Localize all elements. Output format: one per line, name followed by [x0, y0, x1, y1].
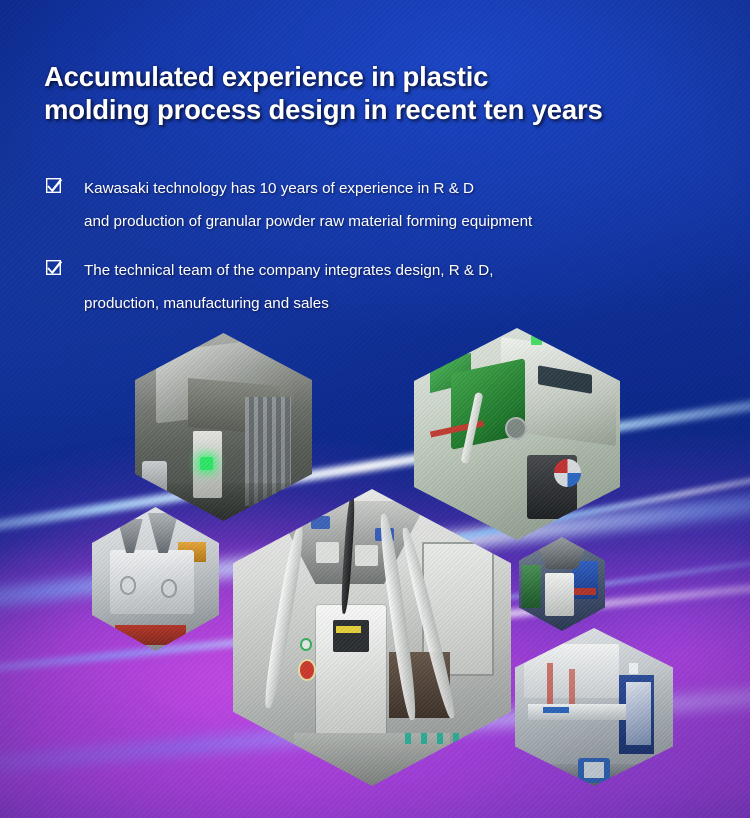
bullet-item: Kawasaki technology has 10 years of expe… — [44, 172, 734, 238]
banner-content: Accumulated experience in plastic moldin… — [0, 0, 750, 818]
bullet-item: The technical team of the company integr… — [44, 254, 734, 320]
bullet-list: Kawasaki technology has 10 years of expe… — [44, 172, 734, 336]
bullet-text: Kawasaki technology has 10 years of expe… — [84, 180, 532, 230]
banner-headline: Accumulated experience in plastic moldin… — [44, 60, 724, 126]
checkbox-checked-icon — [46, 260, 61, 275]
bullet-text: The technical team of the company integr… — [84, 262, 493, 312]
promo-banner: Accumulated experience in plastic moldin… — [0, 0, 750, 818]
headline-line-2: molding process design in recent ten yea… — [44, 93, 724, 126]
headline-line-1: Accumulated experience in plastic — [44, 61, 488, 92]
checkbox-checked-icon — [46, 178, 61, 193]
